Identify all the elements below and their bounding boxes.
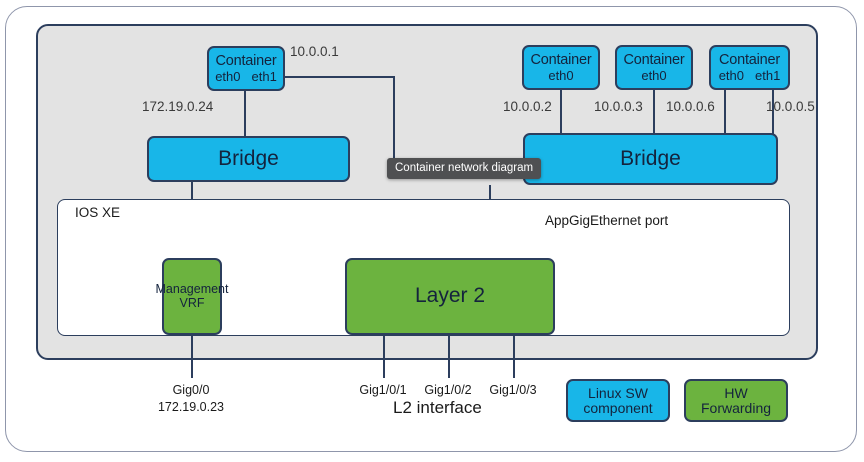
wire-c1-eth0 [560, 90, 562, 134]
container-left-title: Container [215, 54, 276, 69]
gig00-name: Gig0/0 [151, 383, 231, 397]
container-left[interactable]: Container eth0 eth1 [207, 46, 285, 91]
bridge-right-label: Bridge [620, 148, 681, 170]
ip-label-left-eth0: 172.19.0.24 [142, 99, 213, 114]
bridge-left[interactable]: Bridge [147, 136, 350, 182]
legend-hw-forwarding: HW Forwarding [684, 379, 788, 422]
container-right-1[interactable]: Container eth0 [522, 45, 600, 90]
container-right-2[interactable]: Container eth0 [615, 45, 693, 90]
container-right-3[interactable]: Container eth0 eth1 [709, 45, 790, 90]
container-right-1-eth0: eth0 [548, 69, 573, 83]
wire-left-container-eth1-v [393, 76, 395, 161]
container-right-1-title: Container [530, 53, 591, 68]
management-vrf-line2: VRF [180, 297, 205, 310]
ip-label-right-3-eth1: 10.0.0.5 [766, 99, 815, 114]
container-right-3-interfaces: eth0 eth1 [719, 69, 781, 83]
ip-label-right-2: 10.0.0.3 [594, 99, 643, 114]
wire-vrf-to-gig00 [191, 335, 193, 378]
container-right-3-eth1: eth1 [755, 69, 780, 83]
legend-linux-sw: Linux SW component [566, 379, 670, 422]
legend-linux-sw-line1: Linux SW [588, 386, 648, 401]
management-vrf-node[interactable]: Management VRF [162, 258, 222, 335]
container-right-2-eth0: eth0 [641, 69, 666, 83]
layer2-node[interactable]: Layer 2 [345, 258, 555, 335]
gig00-ip: 172.19.0.23 [141, 400, 241, 414]
wire-c2-eth0 [653, 90, 655, 134]
container-right-1-interfaces: eth0 [548, 69, 573, 83]
tooltip-container-network-diagram: Container network diagram [387, 158, 541, 179]
diagram-canvas: Container eth0 eth1 172.19.0.24 10.0.0.1… [0, 0, 864, 462]
container-right-3-eth0: eth0 [719, 69, 744, 83]
l2-port-label-3: Gig1/0/3 [477, 383, 549, 397]
management-vrf-line1: Management [156, 283, 229, 296]
wire-l2-port-3 [513, 335, 515, 378]
container-left-eth0: eth0 [215, 70, 240, 84]
ip-label-left-eth1: 10.0.0.1 [290, 44, 339, 59]
container-right-2-title: Container [623, 53, 684, 68]
container-left-interfaces: eth0 eth1 [215, 70, 277, 84]
wire-l2-port-2 [448, 335, 450, 378]
l2-port-label-1: Gig1/0/1 [347, 383, 419, 397]
layer2-label: Layer 2 [415, 285, 485, 307]
legend-hw-forwarding-line2: Forwarding [701, 401, 771, 416]
wire-left-container-eth0 [244, 90, 246, 137]
l2-interface-caption: L2 interface [393, 398, 482, 418]
appgig-port-label: AppGigEthernet port [545, 213, 668, 228]
container-right-3-title: Container [719, 53, 780, 68]
ip-label-right-3-eth0: 10.0.0.6 [666, 99, 715, 114]
bridge-left-label: Bridge [218, 148, 279, 170]
legend-linux-sw-line2: component [583, 401, 652, 416]
ip-label-right-1: 10.0.0.2 [503, 99, 552, 114]
wire-left-container-eth1-h [285, 76, 395, 78]
container-left-eth1: eth1 [252, 70, 277, 84]
wire-c3-eth0 [724, 90, 726, 134]
iosxe-label: IOS XE [75, 205, 120, 220]
l2-port-label-2: Gig1/0/2 [412, 383, 484, 397]
bridge-right[interactable]: Bridge [523, 133, 778, 185]
wire-l2-port-1 [383, 335, 385, 378]
container-right-2-interfaces: eth0 [641, 69, 666, 83]
legend-hw-forwarding-line1: HW [724, 386, 747, 401]
